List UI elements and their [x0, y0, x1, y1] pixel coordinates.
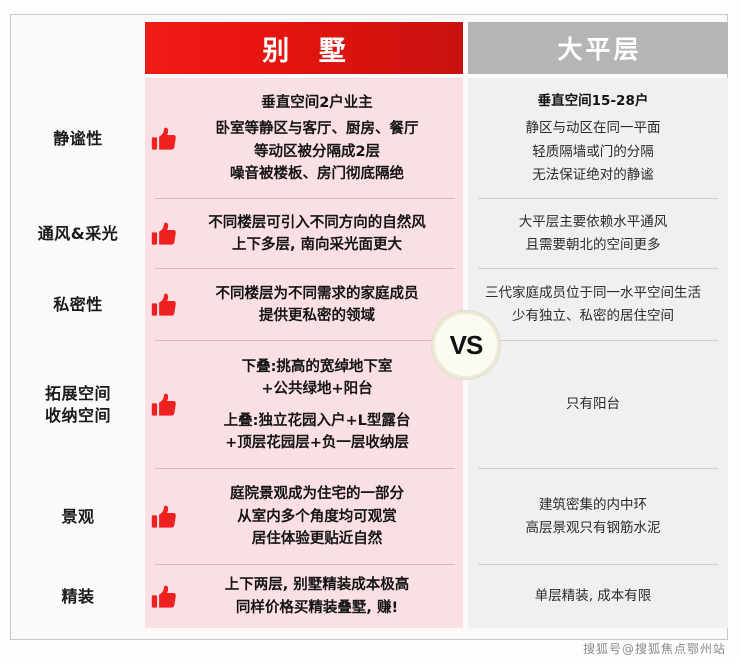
- villa-cell: 不同楼层为不同需求的家庭成员提供更私密的领域: [145, 269, 463, 341]
- villa-line: 下叠:挑高的宽绰地下室: [181, 356, 453, 378]
- villa-line: 不同楼层可引入不同方向的自然风: [181, 212, 453, 234]
- flat-line: 只有阳台: [566, 393, 620, 416]
- villa-cell-text: 下叠:挑高的宽绰地下室+公共绿地+阳台上叠:独立花园入户+L型露台+顶层花园层+…: [181, 356, 463, 455]
- thumbs-up-icon: [147, 221, 181, 247]
- villa-cell-text: 上下两层, 别墅精装成本极高同样价格买精装叠墅, 赚!: [181, 574, 463, 619]
- header-villa: 别 墅: [145, 22, 463, 74]
- flat-cell-text: 单层精装, 成本有限: [535, 585, 652, 608]
- table-row: 通风&采光不同楼层可引入不同方向的自然风上下多层, 南向采光面更大大平层主要依赖…: [11, 199, 727, 269]
- flat-row-separator: [478, 340, 718, 341]
- table-row: 拓展空间收纳空间下叠:挑高的宽绰地下室+公共绿地+阳台上叠:独立花园入户+L型露…: [11, 341, 727, 469]
- villa-line: 卧室等静区与客厅、厨房、餐厅: [181, 118, 453, 140]
- flat-cell-text: 只有阳台: [566, 393, 620, 416]
- vs-badge-label: VS: [450, 330, 483, 361]
- villa-line: 从室内多个角度均可观赏: [181, 506, 453, 528]
- villa-cell: 庭院景观成为住宅的一部分从室内多个角度均可观赏居住体验更贴近自然: [145, 469, 463, 565]
- villa-cell: 垂直空间2户业主卧室等静区与客厅、厨房、餐厅等动区被分隔成2层噪音被楼板、房门彻…: [145, 78, 463, 199]
- villa-line: 居住体验更贴近自然: [181, 528, 453, 550]
- row-label-text: 景观: [61, 506, 94, 528]
- flat-line: 高层景观只有钢筋水泥: [526, 517, 661, 540]
- comparison-infographic: 别 墅 大平层 静谧性垂直空间2户业主卧室等静区与客厅、厨房、餐厅等动区被分隔成…: [0, 0, 740, 661]
- flat-line: 静区与动区在同一平面: [526, 117, 661, 140]
- villa-line: 庭院景观成为住宅的一部分: [181, 483, 453, 505]
- row-label-text: 静谧性: [53, 128, 103, 150]
- flat-cell-text: 大平层主要依赖水平通风且需要朝北的空间更多: [519, 211, 668, 257]
- flat-cell: 大平层主要依赖水平通风且需要朝北的空间更多: [463, 199, 723, 269]
- villa-line: +顶层花园层+负一层收纳层: [181, 432, 453, 454]
- villa-cell-text: 庭院景观成为住宅的一部分从室内多个角度均可观赏居住体验更贴近自然: [181, 483, 463, 550]
- row-label-text: 私密性: [53, 294, 103, 316]
- villa-cell: 不同楼层可引入不同方向的自然风上下多层, 南向采光面更大: [145, 199, 463, 269]
- flat-cell: 三代家庭成员位于同一水平空间生活少有独立、私密的居住空间: [463, 269, 723, 341]
- villa-line: 上下多层, 南向采光面更大: [181, 234, 453, 256]
- thumbs-up-icon: [147, 292, 181, 318]
- row-label: 私密性: [11, 269, 145, 341]
- flat-cell: 只有阳台: [463, 341, 723, 469]
- flat-line: 无法保证绝对的静谧: [526, 164, 661, 187]
- villa-line: 同样价格买精装叠墅, 赚!: [181, 597, 453, 619]
- flat-row-separator: [478, 564, 718, 565]
- villa-lead-line: 垂直空间2户业主: [181, 92, 453, 114]
- flat-line: 单层精装, 成本有限: [535, 585, 652, 608]
- watermark: 搜狐号@搜狐焦点鄂州站: [583, 640, 726, 657]
- flat-row-separator: [478, 268, 718, 269]
- villa-row-separator: [155, 198, 455, 199]
- villa-row-separator: [155, 468, 455, 469]
- header-flat-label: 大平层: [554, 30, 641, 66]
- flat-cell-text: 三代家庭成员位于同一水平空间生活少有独立、私密的居住空间: [485, 282, 701, 328]
- header-villa-label: 别 墅: [252, 29, 355, 68]
- row-label: 景观: [11, 469, 145, 565]
- vs-badge: VS: [432, 311, 500, 379]
- flat-line: 且需要朝北的空间更多: [519, 234, 668, 257]
- flat-line: 大平层主要依赖水平通风: [519, 211, 668, 234]
- villa-line: +公共绿地+阳台: [181, 378, 453, 400]
- header-flat: 大平层: [468, 22, 728, 74]
- flat-line: 轻质隔墙或门的分隔: [526, 141, 661, 164]
- villa-line: 提供更私密的领域: [181, 305, 453, 327]
- row-label: 通风&采光: [11, 199, 145, 269]
- flat-cell-text: 建筑密集的内中环高层景观只有钢筋水泥: [526, 494, 661, 540]
- flat-line: 三代家庭成员位于同一水平空间生活: [485, 282, 701, 305]
- table-row: 私密性不同楼层为不同需求的家庭成员提供更私密的领域三代家庭成员位于同一水平空间生…: [11, 269, 727, 341]
- thumbs-up-icon: [147, 504, 181, 530]
- flat-cell: 单层精装, 成本有限: [463, 565, 723, 628]
- flat-lead-line: 垂直空间15-28户: [526, 90, 661, 113]
- flat-cell: 建筑密集的内中环高层景观只有钢筋水泥: [463, 469, 723, 565]
- villa-row-separator: [155, 340, 455, 341]
- thumbs-up-icon: [147, 584, 181, 610]
- villa-line: 噪音被楼板、房门彻底隔绝: [181, 163, 453, 185]
- villa-row-separator: [155, 268, 455, 269]
- table-row: 精装上下两层, 别墅精装成本极高同样价格买精装叠墅, 赚!单层精装, 成本有限: [11, 565, 727, 628]
- table-row: 静谧性垂直空间2户业主卧室等静区与客厅、厨房、餐厅等动区被分隔成2层噪音被楼板、…: [11, 78, 727, 199]
- row-label: 拓展空间收纳空间: [11, 341, 145, 469]
- row-label-text: 拓展空间收纳空间: [45, 383, 111, 426]
- thumbs-up-icon: [147, 126, 181, 152]
- row-label-text: 通风&采光: [38, 223, 118, 245]
- villa-line: 上下两层, 别墅精装成本极高: [181, 574, 453, 596]
- villa-line: 等动区被分隔成2层: [181, 141, 453, 163]
- villa-cell-text: 不同楼层可引入不同方向的自然风上下多层, 南向采光面更大: [181, 212, 463, 257]
- villa-line: 上叠:独立花园入户+L型露台: [181, 410, 453, 432]
- flat-cell: 垂直空间15-28户静区与动区在同一平面轻质隔墙或门的分隔无法保证绝对的静谧: [463, 78, 723, 199]
- flat-line: 少有独立、私密的居住空间: [485, 305, 701, 328]
- villa-cell: 下叠:挑高的宽绰地下室+公共绿地+阳台上叠:独立花园入户+L型露台+顶层花园层+…: [145, 341, 463, 469]
- flat-cell-text: 垂直空间15-28户静区与动区在同一平面轻质隔墙或门的分隔无法保证绝对的静谧: [526, 90, 661, 187]
- thumbs-up-icon: [147, 392, 181, 418]
- flat-row-separator: [478, 198, 718, 199]
- flat-line: 建筑密集的内中环: [526, 494, 661, 517]
- table-row: 景观庭院景观成为住宅的一部分从室内多个角度均可观赏居住体验更贴近自然建筑密集的内…: [11, 469, 727, 565]
- villa-cell: 上下两层, 别墅精装成本极高同样价格买精装叠墅, 赚!: [145, 565, 463, 628]
- villa-row-separator: [155, 564, 455, 565]
- villa-line: 不同楼层为不同需求的家庭成员: [181, 283, 453, 305]
- row-label: 静谧性: [11, 78, 145, 199]
- villa-cell-text: 不同楼层为不同需求的家庭成员提供更私密的领域: [181, 283, 463, 328]
- row-label-text: 精装: [61, 586, 94, 608]
- row-label: 精装: [11, 565, 145, 628]
- flat-row-separator: [478, 468, 718, 469]
- villa-cell-text: 垂直空间2户业主卧室等静区与客厅、厨房、餐厅等动区被分隔成2层噪音被楼板、房门彻…: [181, 92, 463, 186]
